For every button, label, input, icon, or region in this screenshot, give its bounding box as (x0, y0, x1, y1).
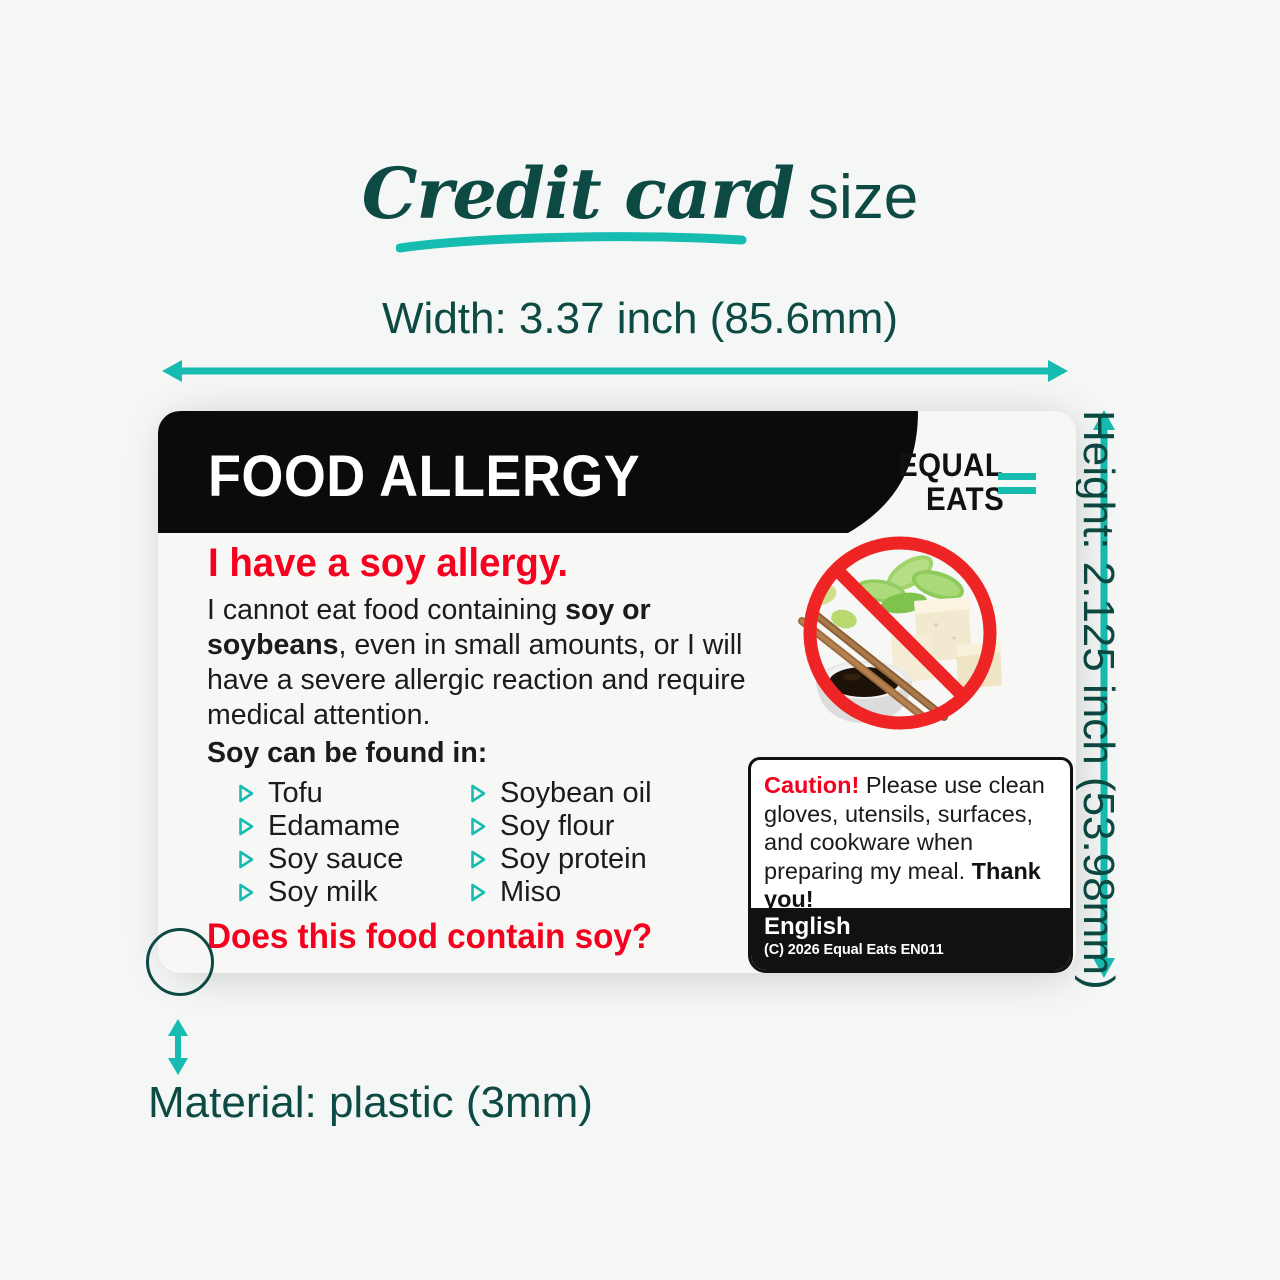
list-item-label: Tofu (268, 777, 323, 810)
caution-box: Caution! Please use clean gloves, utensi… (748, 757, 1073, 973)
allergy-card: FOOD ALLERGY EQUAL EATS I have a soy all… (158, 411, 1076, 973)
list-item: Miso (470, 876, 652, 909)
height-dimension-label: Height: 2.125 inch (53.98mm) (1068, 410, 1128, 980)
width-arrow-icon (160, 355, 1070, 387)
list-item: Edamame (238, 810, 403, 843)
copyright-label: (C) 2026 Equal Eats EN011 (764, 940, 1070, 960)
equal-eats-logo: EQUAL EATS (894, 443, 1044, 519)
triangle-bullet-icon (238, 850, 254, 869)
title-underline-decoration (396, 232, 748, 254)
found-in-list-left: Tofu Edamame Soy sauce Soy milk (238, 777, 403, 909)
card-header-title: FOOD ALLERGY (208, 443, 640, 510)
list-item-label: Soy sauce (268, 843, 403, 876)
caution-text: Caution! Please use clean gloves, utensi… (751, 760, 1070, 914)
description-before: I cannot eat food containing (207, 594, 565, 626)
language-label: English (764, 914, 1070, 940)
list-item-label: Soy protein (500, 843, 647, 876)
list-item-label: Miso (500, 876, 561, 909)
found-in-title: Soy can be found in: (207, 737, 487, 770)
list-item: Soybean oil (470, 777, 652, 810)
caution-keyword: Caution! (764, 772, 859, 798)
list-item-label: Soy milk (268, 876, 378, 909)
no-soy-icon (786, 533, 1014, 733)
list-item: Soy milk (238, 876, 403, 909)
triangle-bullet-icon (470, 850, 486, 869)
logo-equals-bar-top (998, 473, 1036, 480)
triangle-bullet-icon (470, 883, 486, 902)
logo-line-eats: EATS (926, 481, 1004, 518)
list-item-label: Edamame (268, 810, 400, 843)
list-item: Soy flour (470, 810, 652, 843)
triangle-bullet-icon (238, 784, 254, 803)
triangle-bullet-icon (470, 817, 486, 836)
allergy-description: I cannot eat food containing soy or soyb… (207, 593, 747, 733)
allergy-headline: I have a soy allergy. (208, 541, 568, 586)
card-footer: English (C) 2026 Equal Eats EN011 (751, 908, 1070, 970)
allergy-question: Does this food contain soy? (207, 917, 652, 957)
triangle-bullet-icon (470, 784, 486, 803)
logo-equals-bar-bottom (998, 487, 1036, 494)
logo-line-equal: EQUAL (898, 447, 1003, 484)
width-dimension-label: Width: 3.37 inch (85.6mm) (0, 294, 1280, 344)
list-item: Soy protein (470, 843, 652, 876)
list-item-label: Soy flour (500, 810, 614, 843)
list-item: Tofu (238, 777, 403, 810)
page-title-script: Credit card (362, 152, 794, 235)
page-title-plain: size (808, 163, 918, 232)
thickness-callout-ring (146, 928, 214, 996)
material-label: Material: plastic (3mm) (148, 1078, 593, 1128)
page-title: Credit cardsize (0, 152, 1280, 235)
triangle-bullet-icon (238, 883, 254, 902)
list-item: Soy sauce (238, 843, 403, 876)
triangle-bullet-icon (238, 817, 254, 836)
thickness-arrow-icon (163, 1018, 193, 1076)
list-item-label: Soybean oil (500, 777, 652, 810)
found-in-list-right: Soybean oil Soy flour Soy protein Miso (470, 777, 652, 909)
